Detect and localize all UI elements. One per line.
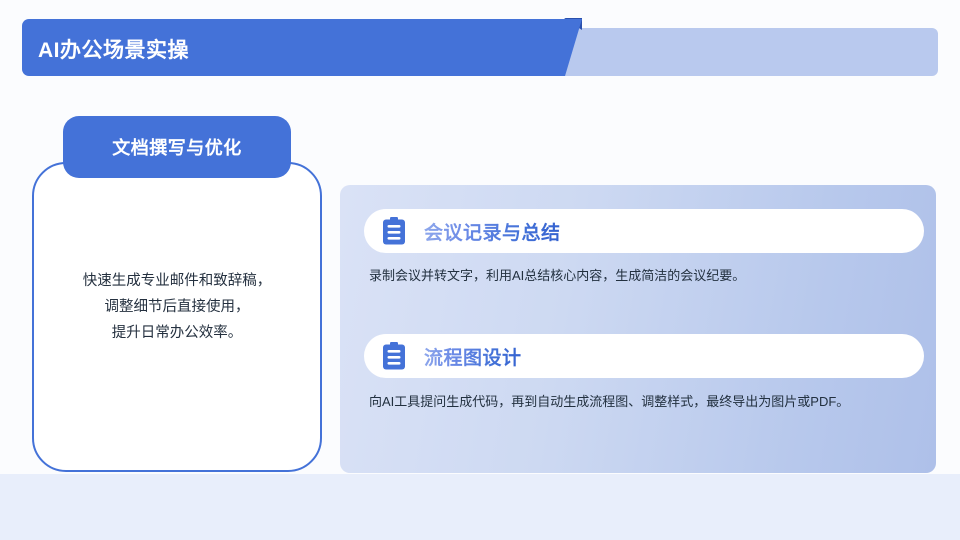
- page-title: AI办公场景实操: [38, 34, 189, 64]
- feature-title: 会议记录与总结: [424, 218, 561, 245]
- clipboard-icon: [382, 217, 406, 245]
- left-card-body-line: 提升日常办公效率。: [32, 320, 322, 346]
- footer-band: [0, 474, 960, 540]
- feature-description: 向AI工具提问生成代码，再到自动生成流程图、调整样式，最终导出为图片或PDF。: [369, 391, 849, 410]
- feature-header[interactable]: 会议记录与总结: [364, 209, 924, 253]
- left-card-body-line: 调整细节后直接使用，: [32, 294, 322, 320]
- ribbon-tail: [548, 28, 938, 76]
- left-card-title-pill[interactable]: 文档撰写与优化: [63, 116, 291, 178]
- feature-header[interactable]: 流程图设计: [364, 334, 924, 378]
- slide-canvas: AI办公场景实操 快速生成专业邮件和致辞稿， 调整细节后直接使用， 提升日常办公…: [0, 0, 960, 540]
- feature-description: 录制会议并转文字，利用AI总结核心内容，生成简洁的会议纪要。: [369, 265, 745, 284]
- header-ribbon: AI办公场景实操: [0, 0, 960, 100]
- left-card-body-line: 快速生成专业邮件和致辞稿，: [32, 268, 322, 294]
- left-card-body: 快速生成专业邮件和致辞稿， 调整细节后直接使用， 提升日常办公效率。: [32, 268, 322, 346]
- left-card-title: 文档撰写与优化: [112, 134, 242, 160]
- feature-title: 流程图设计: [424, 343, 522, 370]
- clipboard-icon: [382, 342, 406, 370]
